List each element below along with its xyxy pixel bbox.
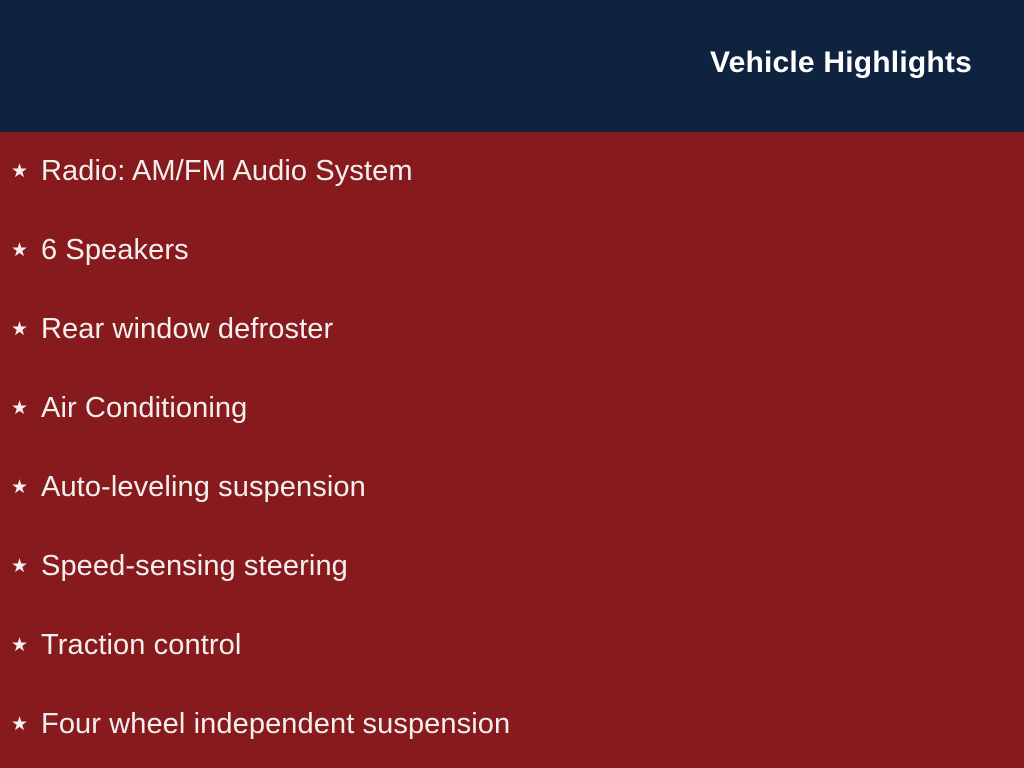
star-icon: ★ (11, 715, 41, 734)
list-item: ★ Speed-sensing steering (0, 527, 1024, 606)
vehicle-highlights-list: ★ Radio: AM/FM Audio System ★ 6 Speakers… (0, 132, 1024, 764)
list-item-label: Four wheel independent suspension (41, 706, 510, 742)
star-icon: ★ (11, 162, 41, 181)
list-item: ★ Air Conditioning (0, 369, 1024, 448)
slide-body: ★ Radio: AM/FM Audio System ★ 6 Speakers… (0, 132, 1024, 768)
list-item-label: Auto-leveling suspension (41, 469, 366, 505)
slide-header-band: Vehicle Highlights (0, 0, 1024, 132)
star-icon: ★ (11, 320, 41, 339)
list-item: ★ 6 Speakers (0, 211, 1024, 290)
list-item-label: Radio: AM/FM Audio System (41, 153, 413, 189)
list-item-label: Rear window defroster (41, 311, 333, 347)
star-icon: ★ (11, 478, 41, 497)
list-item: ★ Traction control (0, 606, 1024, 685)
list-item-label: Air Conditioning (41, 390, 247, 426)
list-item-label: Traction control (41, 627, 241, 663)
list-item-label: 6 Speakers (41, 232, 189, 268)
list-item-label: Speed-sensing steering (41, 548, 348, 584)
list-item: ★ Radio: AM/FM Audio System (0, 132, 1024, 211)
star-icon: ★ (11, 636, 41, 655)
presentation-slide: Vehicle Highlights ★ Radio: AM/FM Audio … (0, 0, 1024, 768)
list-item: ★ Rear window defroster (0, 290, 1024, 369)
list-item: ★ Auto-leveling suspension (0, 448, 1024, 527)
star-icon: ★ (11, 399, 41, 418)
star-icon: ★ (11, 241, 41, 260)
star-icon: ★ (11, 557, 41, 576)
list-item: ★ Four wheel independent suspension (0, 685, 1024, 764)
page-title: Vehicle Highlights (710, 45, 972, 81)
